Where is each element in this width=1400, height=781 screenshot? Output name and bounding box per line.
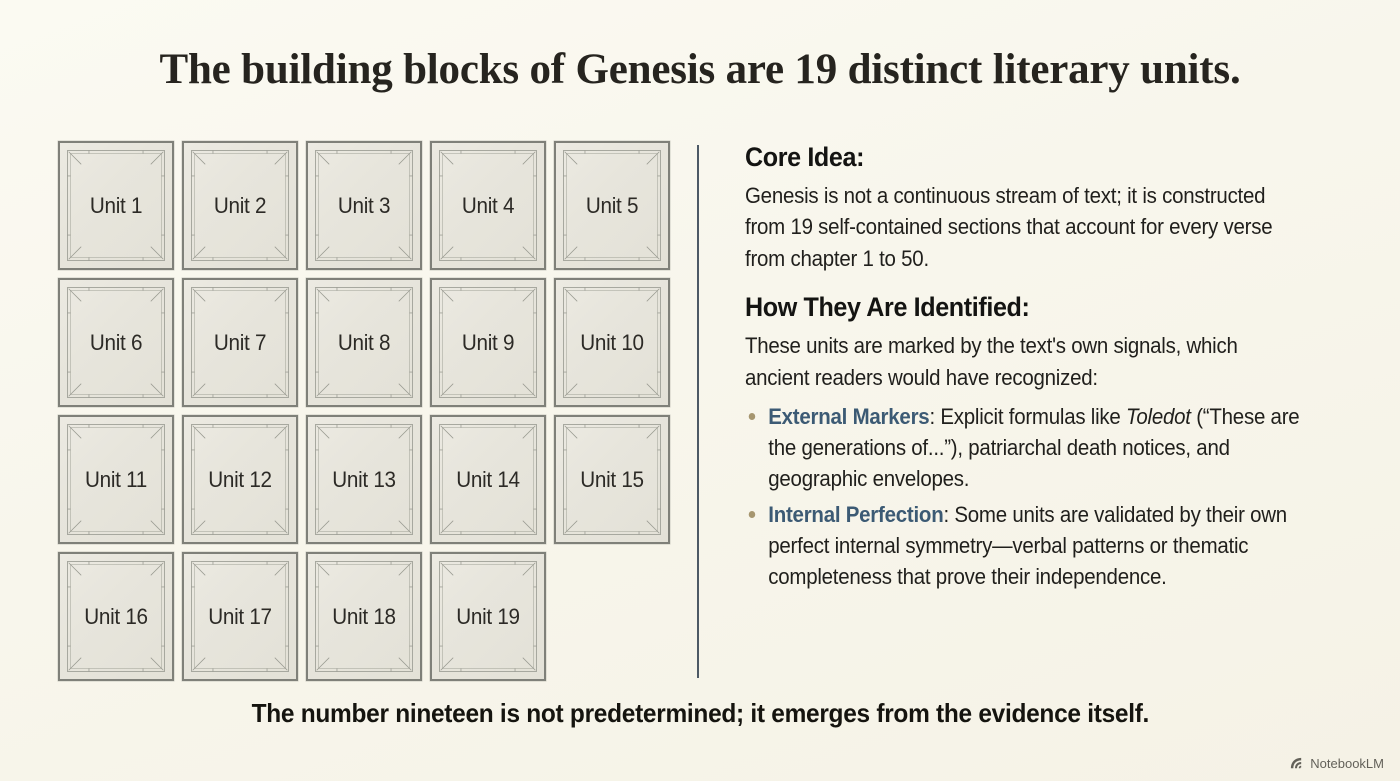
unit-tile-label: Unit 19 [435,554,540,679]
core-idea-body: Genesis is not a continuous stream of te… [745,180,1303,274]
unit-tile[interactable]: Unit 5 [554,141,670,270]
bullet-label: Internal Perfection [768,502,943,527]
how-identified-body: These units are marked by the text's own… [745,330,1303,393]
unit-tile-label: Unit 16 [63,554,168,679]
notebooklm-label: NotebookLM [1310,756,1384,771]
page-title: The building blocks of Genesis are 19 di… [0,46,1400,93]
unit-tile-label: Unit 7 [187,280,292,405]
unit-tile[interactable]: Unit 14 [430,415,546,544]
bullet-label: External Markers [768,404,929,429]
unit-tile[interactable]: Unit 3 [306,141,422,270]
unit-tile-label: Unit 13 [311,417,416,542]
footer-text: The number nineteen is not predetermined… [251,698,1148,729]
unit-tile[interactable]: Unit 9 [430,278,546,407]
details-panel: Core Idea: Genesis is not a continuous s… [745,142,1345,596]
bullet-italic-term: Toledot [1126,404,1191,429]
unit-tile[interactable]: Unit 12 [182,415,298,544]
unit-tile[interactable]: Unit 11 [58,415,174,544]
unit-tile[interactable]: Unit 4 [430,141,546,270]
unit-tile-label: Unit 4 [435,143,540,268]
unit-tile-label: Unit 6 [63,280,168,405]
unit-tile-label: Unit 14 [435,417,540,542]
unit-tile-label: Unit 18 [311,554,416,679]
unit-tile-label: Unit 5 [559,143,664,268]
unit-tile[interactable]: Unit 1 [58,141,174,270]
unit-tile-label: Unit 12 [187,417,292,542]
unit-grid-row: Unit 11Unit 12Unit 13Unit 14Unit 15 [58,415,674,544]
slide-canvas: The building blocks of Genesis are 19 di… [0,0,1400,781]
unit-tile-label: Unit 3 [311,143,416,268]
unit-tile[interactable]: Unit 15 [554,415,670,544]
unit-tile[interactable]: Unit 10 [554,278,670,407]
unit-tile-label: Unit 17 [187,554,292,679]
unit-grid-row: Unit 16Unit 17Unit 18Unit 19 [58,552,674,681]
notebooklm-spiral-icon [1289,756,1304,771]
unit-tile-label: Unit 15 [559,417,664,542]
marker-bullet-list: External Markers: Explicit formulas like… [745,401,1345,592]
unit-tile-label: Unit 9 [435,280,540,405]
unit-grid-row: Unit 1Unit 2Unit 3Unit 4Unit 5 [58,141,674,270]
unit-tile[interactable]: Unit 13 [306,415,422,544]
unit-tile[interactable]: Unit 16 [58,552,174,681]
bullet-dot-icon [749,413,756,420]
unit-tile-label: Unit 11 [63,417,168,542]
unit-tile[interactable]: Unit 17 [182,552,298,681]
unit-tile[interactable]: Unit 8 [306,278,422,407]
notebooklm-watermark: NotebookLM [1289,756,1384,771]
unit-tile-label: Unit 10 [559,280,664,405]
bullet-dot-icon [749,511,756,518]
unit-tile[interactable]: Unit 18 [306,552,422,681]
marker-bullet-item: Internal Perfection: Some units are vali… [745,499,1303,593]
unit-grid: Unit 1Unit 2Unit 3Unit 4Unit 5Unit 6Unit… [58,141,674,689]
how-identified-heading: How They Are Identified: [745,292,1303,324]
core-idea-heading: Core Idea: [745,142,1303,174]
unit-tile-label: Unit 8 [311,280,416,405]
unit-tile-label: Unit 2 [187,143,292,268]
footer-takeaway: The number nineteen is not predetermined… [0,698,1400,729]
unit-tile[interactable]: Unit 6 [58,278,174,407]
marker-bullet-item: External Markers: Explicit formulas like… [745,401,1303,495]
unit-tile[interactable]: Unit 19 [430,552,546,681]
bullet-text-before: : Explicit formulas like [929,404,1126,429]
unit-tile-label: Unit 1 [63,143,168,268]
unit-tile[interactable]: Unit 2 [182,141,298,270]
unit-tile[interactable]: Unit 7 [182,278,298,407]
unit-grid-row: Unit 6Unit 7Unit 8Unit 9Unit 10 [58,278,674,407]
vertical-divider [697,145,699,678]
